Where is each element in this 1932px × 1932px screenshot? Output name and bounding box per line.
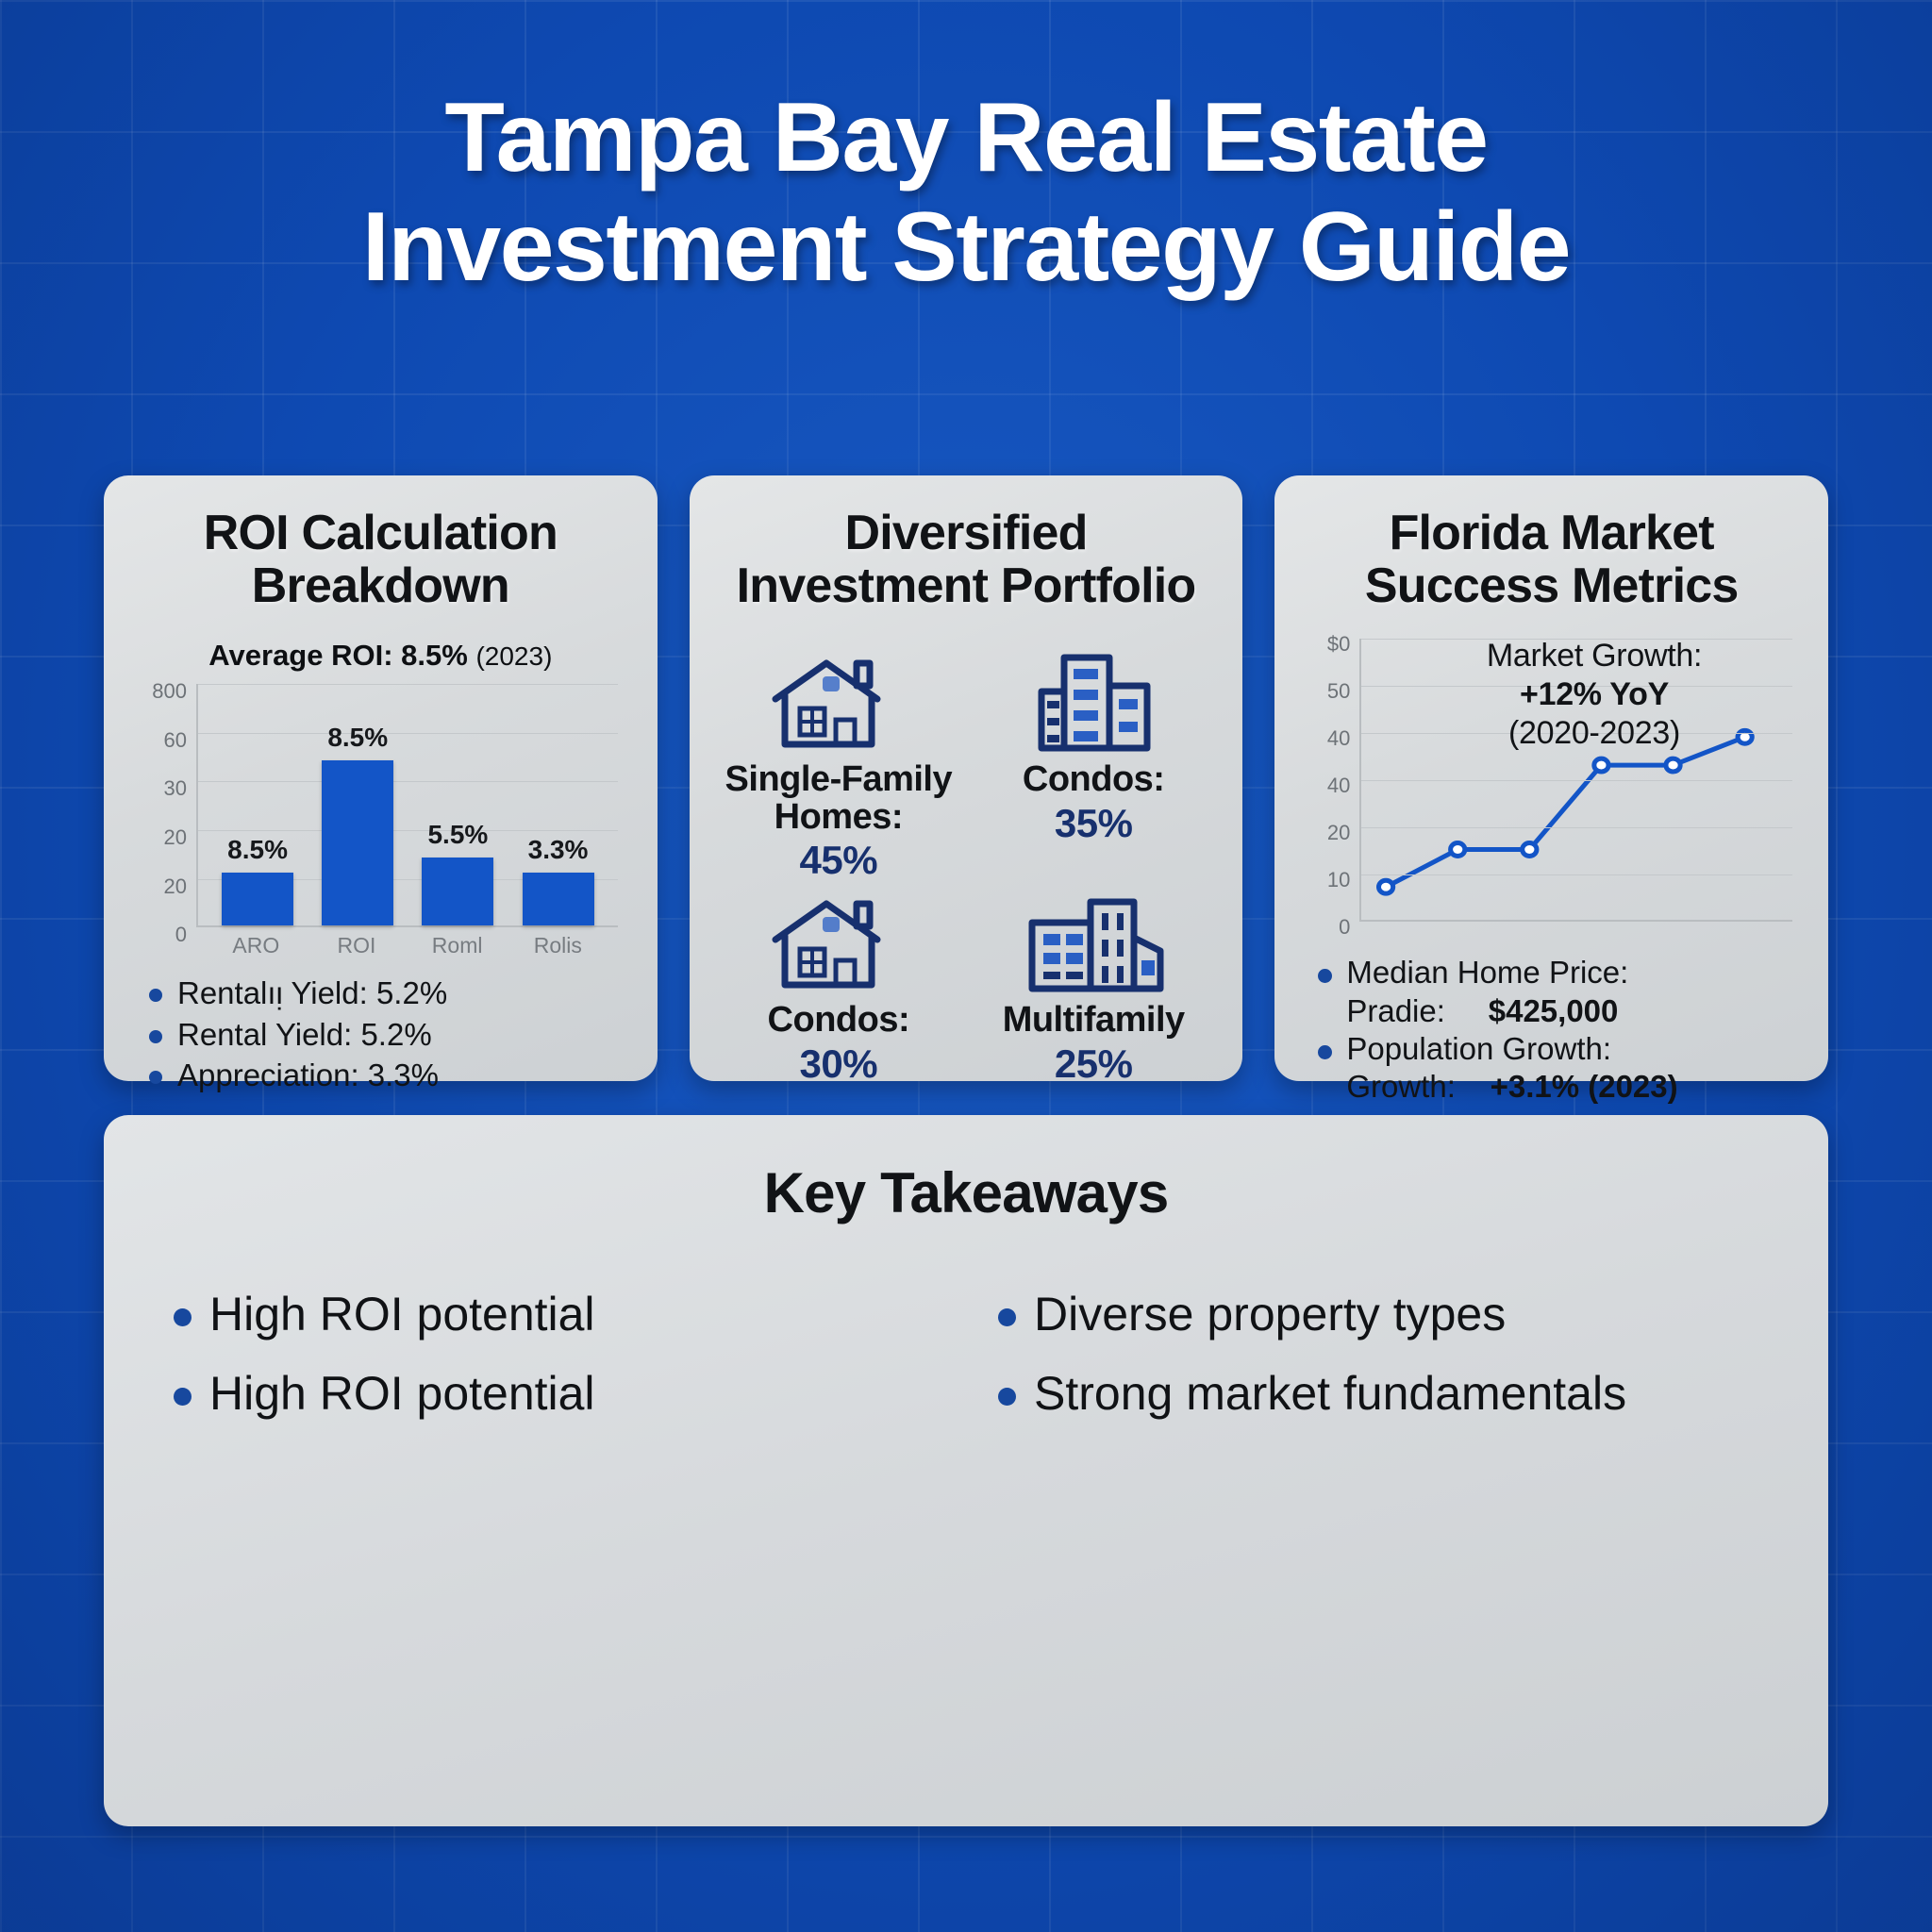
- bar-chart-x-tick: Rolis: [522, 933, 593, 958]
- bar-chart-x-tick: ARO: [220, 933, 291, 958]
- portfolio-icon-grid: Single-FamilyHomes:45%: [714, 650, 1219, 1076]
- line-chart-y-tick: 10: [1327, 868, 1350, 892]
- line-chart-data-point: [1523, 843, 1537, 857]
- list-item: Rentalıᴉ Yield: 5.2%: [142, 973, 633, 1014]
- house-icon: [768, 650, 909, 756]
- line-chart-y-axis: $050404020100: [1303, 639, 1354, 922]
- takeaways-right-column: Diverse property types Strong market fun…: [985, 1274, 1772, 1433]
- average-roi-year: (2023): [475, 641, 552, 671]
- metric-value-row-1: Growth: +3.1% (2023): [1346, 1068, 1804, 1106]
- annotation-line-1: Market Growth:: [1396, 637, 1792, 675]
- card-diversified-portfolio: Diversified Investment Portfolio Single-…: [690, 475, 1243, 1081]
- portfolio-item-label: Multifamily: [1003, 1002, 1185, 1040]
- roi-bar-chart: 800603020200 8.5%8.5%5.5%3.3% AROROIRoml…: [138, 676, 624, 959]
- line-chart-y-tick: 40: [1327, 774, 1350, 798]
- multifamily-icon: [1023, 891, 1164, 996]
- line-chart-data-point: [1451, 843, 1465, 857]
- title-line-1: Tampa Bay Real Estate: [0, 83, 1932, 192]
- metric-value-row-0: Pradie: $425,000: [1346, 992, 1804, 1030]
- gridline: [1361, 827, 1792, 828]
- market-growth-line-chart: $050404020100 Market Growth: +12% YoY (2…: [1303, 633, 1796, 944]
- average-roi-label: Average ROI:: [208, 639, 392, 672]
- cards-row: ROI Calculation Breakdown Average ROI: 8…: [104, 475, 1828, 1079]
- list-item: Strong market fundamentals: [985, 1354, 1772, 1433]
- card-roi-title-line-1: ROI Calculation: [128, 508, 633, 560]
- takeaways-left-column: High ROI potential High ROI potential: [160, 1274, 947, 1433]
- bar-chart-data-label: 8.5%: [327, 723, 388, 753]
- average-roi-value: 8.5%: [401, 639, 468, 672]
- bar-chart-x-axis: AROROIRomlRolis: [196, 933, 618, 958]
- card-portfolio-title-line-2: Investment Portfolio: [714, 560, 1219, 613]
- bar-chart-plot-area: 8.5%8.5%5.5%3.3%: [196, 684, 618, 927]
- list-item: Population Growth: Growth: +3.1% (2023): [1308, 1030, 1804, 1107]
- portfolio-item-percent: 30%: [800, 1041, 878, 1087]
- bar-chart-y-tick: 20: [164, 825, 187, 850]
- bar-chart-bar-group: 3.3%: [523, 684, 594, 925]
- bar-chart-bar: [222, 873, 293, 926]
- line-chart-y-tick: 40: [1327, 726, 1350, 751]
- condo-tower-icon: [1023, 650, 1164, 756]
- card-market-title-line-1: Florida Market: [1299, 508, 1804, 560]
- bar-chart-y-tick: 30: [164, 776, 187, 801]
- bar-chart-bar-group: 8.5%: [222, 684, 293, 925]
- portfolio-item-label: Condos:: [768, 1002, 910, 1040]
- bar-chart-bar-group: 8.5%: [322, 684, 393, 925]
- annotation-line-2: +12% YoY: [1396, 675, 1792, 714]
- house-icon: [768, 891, 909, 996]
- portfolio-item-percent: 25%: [1055, 1041, 1133, 1087]
- bar-chart-data-label: 5.5%: [427, 820, 488, 850]
- portfolio-item: Condos:30%: [714, 891, 963, 1087]
- annotation-line-3: (2020-2023): [1396, 714, 1792, 753]
- card-roi-title-line-2: Breakdown: [128, 560, 633, 613]
- portfolio-item: Condos:35%: [969, 650, 1218, 883]
- condo-tower-icon: [1023, 650, 1164, 756]
- bar-chart-bars: 8.5%8.5%5.5%3.3%: [198, 684, 618, 925]
- bar-chart-data-label: 8.5%: [227, 835, 288, 865]
- bar-chart-bar: [322, 760, 393, 925]
- list-item: High ROI potential: [160, 1354, 947, 1433]
- bar-chart-bar-group: 5.5%: [422, 684, 493, 925]
- market-metrics-list: Median Home Price: Pradie: $425,000 Popu…: [1299, 954, 1804, 1106]
- line-chart-y-tick: 50: [1327, 679, 1350, 704]
- card-florida-market: Florida Market Success Metrics $05040402…: [1274, 475, 1828, 1081]
- bar-chart-y-axis: 800603020200: [138, 684, 191, 927]
- metric-lead-0: Pradie:: [1346, 993, 1445, 1028]
- bar-chart-data-label: 3.3%: [528, 835, 589, 865]
- bar-chart-x-tick: Roml: [422, 933, 493, 958]
- infographic-page: Tampa Bay Real Estate Investment Strateg…: [0, 0, 1932, 1932]
- list-item: Median Home Price: Pradie: $425,000: [1308, 954, 1804, 1030]
- card-market-title-line-2: Success Metrics: [1299, 560, 1804, 613]
- line-chart-data-point: [1594, 758, 1608, 772]
- line-chart-data-point: [1666, 758, 1680, 772]
- line-chart-y-tick: 0: [1339, 915, 1350, 940]
- card-portfolio-title-line-1: Diversified: [714, 508, 1219, 560]
- metric-label-1: Population Growth:: [1346, 1031, 1611, 1066]
- house-icon: [768, 891, 909, 996]
- bar-chart-y-tick: 60: [164, 728, 187, 753]
- key-takeaways-panel: Key Takeaways High ROI potential High RO…: [104, 1115, 1828, 1826]
- metric-lead-1: Growth:: [1346, 1069, 1456, 1104]
- list-item: Rental Yield: 5.2%: [142, 1014, 633, 1056]
- house-icon: [768, 650, 909, 756]
- bar-chart-y-tick: 800: [152, 679, 187, 704]
- line-chart-polyline: [1386, 738, 1745, 888]
- market-growth-annotation: Market Growth: +12% YoY (2020-2023): [1396, 637, 1792, 752]
- card-roi-calculation: ROI Calculation Breakdown Average ROI: 8…: [104, 475, 658, 1081]
- portfolio-item-label: Condos:: [1023, 761, 1165, 799]
- card-portfolio-title: Diversified Investment Portfolio: [714, 508, 1219, 612]
- line-chart-y-tick: 20: [1327, 821, 1350, 845]
- average-roi-line: Average ROI: 8.5% (2023): [128, 639, 633, 673]
- list-item: High ROI potential: [160, 1274, 947, 1354]
- line-chart-data-point: [1379, 881, 1393, 894]
- portfolio-item: Multifamily25%: [969, 891, 1218, 1087]
- bar-chart-x-tick: ROI: [321, 933, 392, 958]
- metric-amount-1: +3.1% (2023): [1491, 1069, 1678, 1104]
- key-takeaways-title: Key Takeaways: [160, 1160, 1772, 1225]
- bar-chart-bar: [523, 873, 594, 926]
- portfolio-item: Single-FamilyHomes:45%: [714, 650, 963, 883]
- title-line-2: Investment Strategy Guide: [0, 192, 1932, 302]
- key-takeaways-columns: High ROI potential High ROI potential Di…: [160, 1274, 1772, 1433]
- list-item: Diverse property types: [985, 1274, 1772, 1354]
- bar-chart-y-tick: 20: [164, 874, 187, 899]
- bar-chart-bar: [422, 858, 493, 925]
- gridline: [1361, 874, 1792, 875]
- page-title: Tampa Bay Real Estate Investment Strateg…: [0, 83, 1932, 303]
- metric-label-0: Median Home Price:: [1346, 955, 1628, 990]
- gridline: [1361, 780, 1792, 781]
- portfolio-item-percent: 45%: [800, 838, 878, 883]
- portfolio-item-label: Single-FamilyHomes:: [725, 761, 953, 836]
- card-market-title: Florida Market Success Metrics: [1299, 508, 1804, 612]
- roi-bullet-list: Rentalıᴉ Yield: 5.2% Rental Yield: 5.2% …: [128, 973, 633, 1096]
- bar-chart-y-tick: 0: [175, 923, 187, 947]
- portfolio-item-percent: 35%: [1055, 801, 1133, 846]
- metric-amount-0: $425,000: [1489, 993, 1619, 1028]
- line-chart-y-tick: $0: [1327, 632, 1350, 657]
- list-item: Appreciation: 3.3%: [142, 1055, 633, 1096]
- multifamily-icon: [1023, 891, 1164, 996]
- card-roi-title: ROI Calculation Breakdown: [128, 508, 633, 612]
